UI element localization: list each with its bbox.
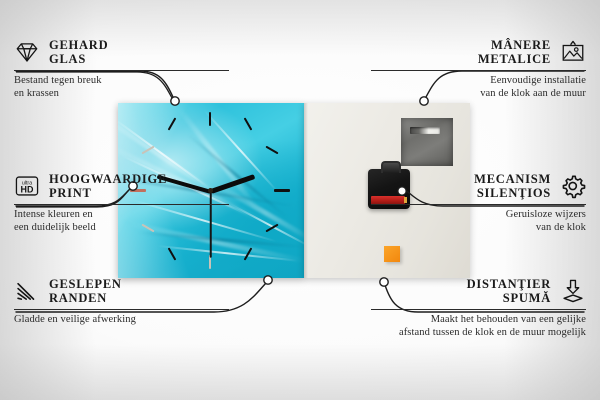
divider [371, 204, 586, 205]
feature-distantier-spuma: DISTANŢIER SPUMĂ Maakt het behouden van … [371, 277, 586, 339]
feature-title: MECANISM SILENŢIOS [474, 172, 551, 200]
feature-description: Intense kleuren en een duidelijk beeld [14, 209, 229, 234]
feature-header: MECANISM SILENŢIOS [371, 172, 586, 200]
feature-description: Maakt het behouden van een gelijke afsta… [346, 314, 586, 339]
feature-header: MÂNERE METALICE [371, 38, 586, 66]
feature-title: GESLEPEN RANDEN [49, 277, 122, 305]
svg-text:HD: HD [21, 185, 34, 195]
feature-title: HOOGWAARDIGE PRINT [49, 172, 167, 200]
feature-description: Eenvoudige installatie van de klok aan d… [371, 75, 586, 100]
feature-header: GEHARD GLAS [14, 38, 229, 66]
infographic-canvas: GEHARD GLAS Bestand tegen breuk en krass… [0, 0, 600, 400]
diamond-icon [14, 39, 40, 65]
picture-hanger-icon [560, 39, 586, 65]
divider [14, 70, 229, 71]
metal-hanger-plate [401, 118, 453, 166]
divider [14, 204, 229, 205]
ultra-hd-icon: ultra HD [14, 173, 40, 199]
divider [371, 309, 586, 310]
gear-icon [560, 173, 586, 199]
feature-manere-metalice: MÂNERE METALICE Eenvoudige installatie v… [371, 38, 586, 100]
beveled-edges-icon [14, 278, 40, 304]
feature-geslepen-randen: GESLEPEN RANDEN Gladde en veilige afwerk… [14, 277, 229, 327]
feature-header: ultra HD HOOGWAARDIGE PRINT [14, 172, 229, 200]
divider [14, 309, 229, 310]
feature-title: GEHARD GLAS [49, 38, 108, 66]
feature-header: DISTANŢIER SPUMĂ [371, 277, 586, 305]
feature-mecanism-silentios: MECANISM SILENŢIOS Geruisloze wijzers va… [371, 172, 586, 234]
feature-description: Bestand tegen breuk en krassen [14, 75, 229, 100]
divider [371, 70, 586, 71]
feature-description: Gladde en veilige afwerking [14, 314, 229, 327]
feature-description: Geruisloze wijzers van de klok [371, 209, 586, 234]
feature-title: MÂNERE METALICE [478, 38, 551, 66]
feature-gehard-glas: GEHARD GLAS Bestand tegen breuk en krass… [14, 38, 229, 100]
feature-title: DISTANŢIER SPUMĂ [467, 277, 551, 305]
foam-spacer [384, 246, 400, 262]
hanger-slot [410, 127, 440, 134]
feature-header: GESLEPEN RANDEN [14, 277, 229, 305]
foam-spacer-icon [560, 278, 586, 304]
feature-hoogwaardige-print: ultra HD HOOGWAARDIGE PRINT Intense kleu… [14, 172, 229, 234]
